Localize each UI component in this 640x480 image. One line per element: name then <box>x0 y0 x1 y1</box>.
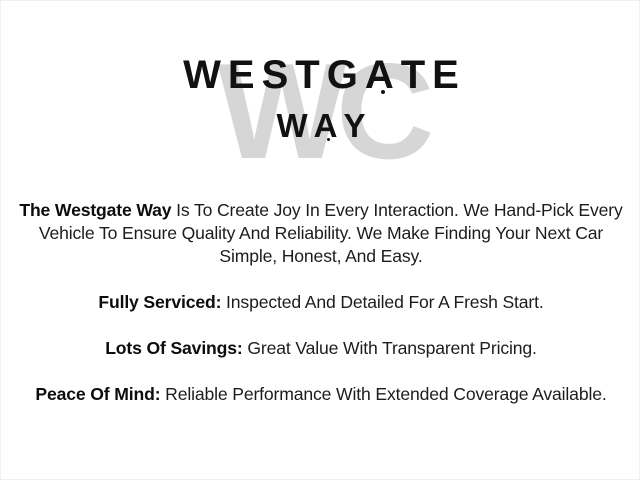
brand-wordmark: WESTGATE WAY <box>1 49 640 147</box>
brand-wordmark-line-westgate: WESTGATE <box>1 49 640 101</box>
peace-of-mind-lead-label: Peace Of Mind: <box>35 384 160 404</box>
promo-card: WC WESTGATE WAY The Westgate Way Is To C… <box>0 0 640 480</box>
wordmark-w-text: W <box>276 107 313 144</box>
brand-logo: WC WESTGATE WAY <box>1 49 640 181</box>
wordmark-y-text: Y <box>343 107 371 144</box>
paragraph-lots-of-savings: Lots Of Savings: Great Value With Transp… <box>15 337 627 360</box>
dotted-a-glyph-westgate: A <box>365 49 401 101</box>
brand-wordmark-line-way: WAY <box>1 105 640 147</box>
wordmark-westg-text: WESTG <box>183 53 365 97</box>
lots-of-savings-lead-label: Lots Of Savings: <box>105 338 242 358</box>
paragraph-peace-of-mind: Peace Of Mind: Reliable Performance With… <box>15 383 627 406</box>
fully-serviced-body-text: Inspected And Detailed For A Fresh Start… <box>221 292 543 312</box>
peace-of-mind-body-text: Reliable Performance With Extended Cover… <box>160 384 606 404</box>
dotted-a-glyph-way: A <box>314 105 344 147</box>
paragraph-fully-serviced: Fully Serviced: Inspected And Detailed F… <box>15 291 627 314</box>
intro-lead-label: The Westgate Way <box>19 200 171 220</box>
value-proposition-copy: The Westgate Way Is To Create Joy In Eve… <box>15 199 627 406</box>
fully-serviced-lead-label: Fully Serviced: <box>98 292 221 312</box>
paragraph-intro: The Westgate Way Is To Create Joy In Eve… <box>15 199 627 268</box>
lots-of-savings-body-text: Great Value With Transparent Pricing. <box>243 338 537 358</box>
wordmark-te-text: TE <box>401 53 466 97</box>
